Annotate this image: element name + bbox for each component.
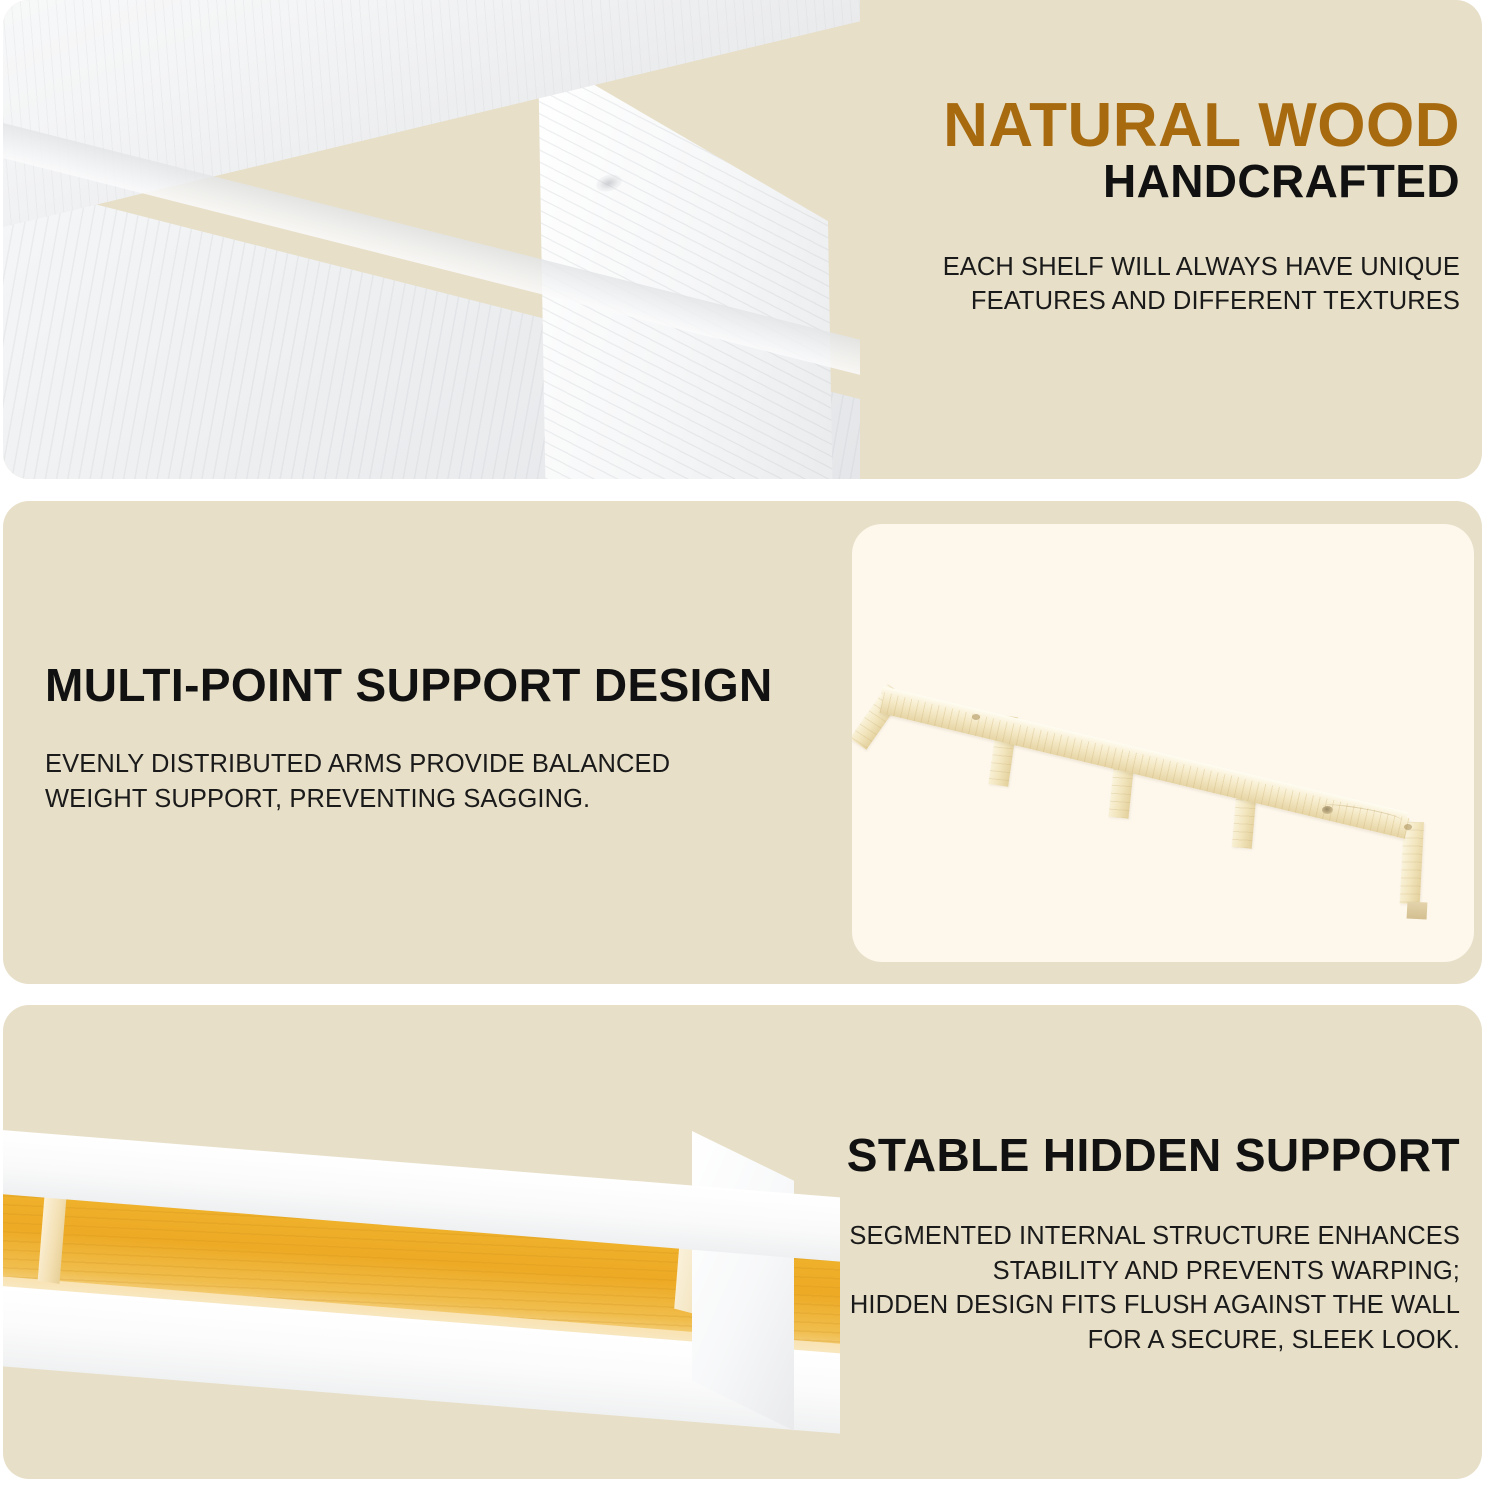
- hollow-shelf-photo: [3, 1005, 840, 1479]
- wood-knot-icon: [972, 714, 980, 720]
- shelf-end-cap: [692, 1131, 794, 1431]
- body-line: WEIGHT SUPPORT, PREVENTING SAGGING.: [45, 782, 825, 817]
- body-line: EVENLY DISTRIBUTED ARMS PROVIDE BALANCED: [45, 747, 825, 782]
- headline-handcrafted: HANDCRAFTED: [820, 157, 1460, 205]
- panel-multi-point-text: MULTI-POINT SUPPORT DESIGN EVENLY DISTRI…: [45, 661, 825, 817]
- body-line: STABILITY AND PREVENTS WARPING;: [820, 1254, 1460, 1289]
- shelf-block-photo: [3, 0, 860, 479]
- bracket-arm-tip: [1407, 901, 1428, 919]
- panel-natural-wood: NATURAL WOOD HANDCRAFTED EACH SHELF WILL…: [3, 0, 1482, 479]
- headline-stable-hidden-support: STABLE HIDDEN SUPPORT: [820, 1131, 1460, 1179]
- panel-stable-hidden-title: STABLE HIDDEN SUPPORT: [820, 1131, 1460, 1179]
- panel-natural-wood-body: EACH SHELF WILL ALWAYS HAVE UNIQUE FEATU…: [820, 250, 1460, 319]
- body-line: EACH SHELF WILL ALWAYS HAVE UNIQUE: [820, 250, 1460, 285]
- wood-knot-icon: [1404, 824, 1412, 830]
- panel-multi-point-body: EVENLY DISTRIBUTED ARMS PROVIDE BALANCED…: [45, 747, 825, 816]
- body-line: FEATURES AND DIFFERENT TEXTURES: [820, 284, 1460, 319]
- shelf-end-face: [538, 52, 836, 479]
- body-line: HIDDEN DESIGN FITS FLUSH AGAINST THE WAL…: [820, 1288, 1460, 1323]
- panel-stable-hidden-body: SEGMENTED INTERNAL STRUCTURE ENHANCES ST…: [820, 1219, 1460, 1358]
- body-line: SEGMENTED INTERNAL STRUCTURE ENHANCES: [820, 1219, 1460, 1254]
- headline-multi-point-support-design: MULTI-POINT SUPPORT DESIGN: [45, 661, 825, 709]
- panel-stable-hidden-support: STABLE HIDDEN SUPPORT SEGMENTED INTERNAL…: [3, 1005, 1482, 1479]
- headline-natural-wood: NATURAL WOOD: [820, 94, 1460, 157]
- body-line: FOR A SECURE, SLEEK LOOK.: [820, 1323, 1460, 1358]
- screw-hole-icon: [1322, 806, 1333, 814]
- bracket-rail: [880, 692, 1410, 838]
- bracket-photo-card: [852, 524, 1474, 962]
- panel-natural-wood-text: NATURAL WOOD HANDCRAFTED EACH SHELF WILL…: [820, 94, 1460, 319]
- wood-bracket-assembly: [852, 524, 1474, 962]
- product-feature-infographic: NATURAL WOOD HANDCRAFTED EACH SHELF WILL…: [0, 0, 1500, 1489]
- panel-multi-point-support: MULTI-POINT SUPPORT DESIGN EVENLY DISTRI…: [3, 501, 1482, 984]
